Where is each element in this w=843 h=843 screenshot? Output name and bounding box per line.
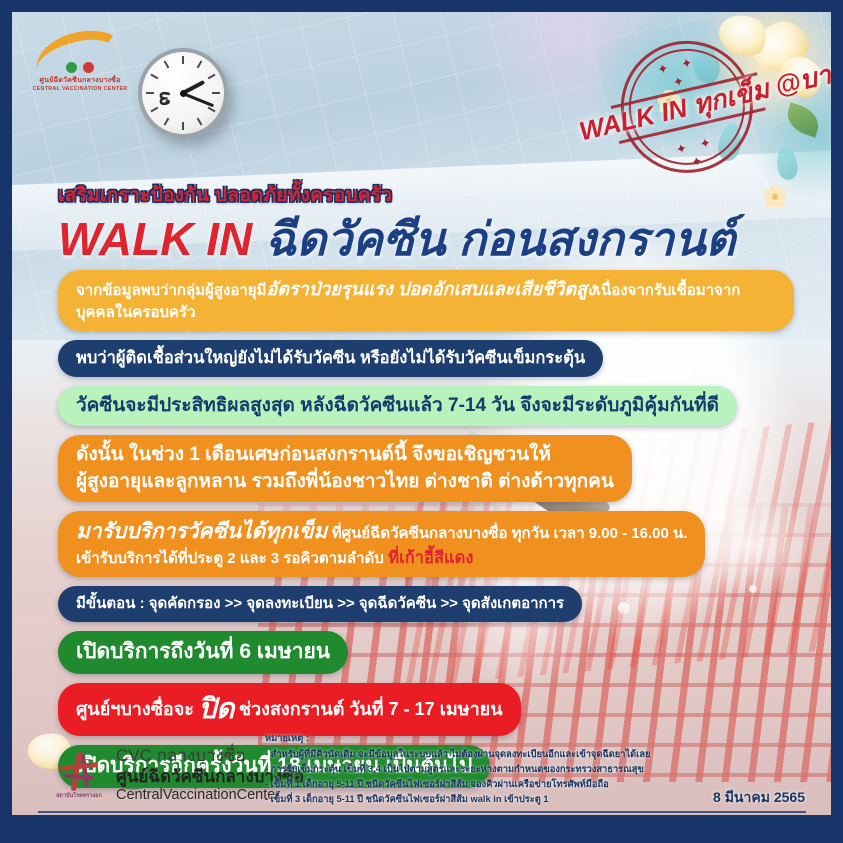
cvc-mark-caption: สถาบันโรคทรวงอก — [52, 792, 106, 800]
headline-main: WALK IN ฉีดวัคซีน ก่อนสงกรานต์ — [58, 214, 735, 266]
cvc-cross-logo: สถาบันโรคทรวงอก — [52, 751, 106, 800]
risk-text-highlight: อัตราป่วยรุนแรง ปอดอักเสบและเสียชีวิตสูง — [266, 279, 595, 299]
invitation-line-1: ดังนั้น ในช่วง 1 เดือนเศษก่อนสงกรานต์นี้… — [76, 442, 614, 468]
cross-icon — [58, 751, 100, 791]
unvaccinated-box: พบว่าผู้ติดเชื้อส่วนใหญ่ยังไม่ได้รับวัคซ… — [58, 340, 603, 377]
closed-box: ศูนย์ฯบางซื่อจะ ปิด ช่วงสงกรานต์ วันที่ … — [58, 683, 521, 736]
clock-minute-hand — [182, 92, 214, 107]
message-box-list: จากข้อมูลพบว่ากลุ่มผู้สูงอายุมีอัตราป่วย… — [58, 270, 794, 797]
logo-thai-name: ศูนย์ฉีดวัคซีนกลางบางซื่อ — [26, 75, 134, 86]
service-line-2: เข้ารับบริการได้ที่ประตู 2 และ 3 รอคิวตา… — [76, 547, 687, 570]
poster-canvas: ศูนย์ฉีดวัคซีนกลางบางซื่อ CENTRAL VACCIN… — [12, 12, 831, 831]
service-door-text: เข้ารับบริการได้ที่ประตู 2 และ 3 รอคิวตา… — [76, 550, 384, 567]
footer-divider — [38, 811, 806, 813]
service-red-chair-text: ที่เก้าอี้สีแดง — [388, 549, 473, 567]
service-rest: ที่ศูนย์ฉีดวัคซีนกลางบางซื่อ ทุกวัน เวลา… — [332, 525, 688, 542]
footer-notes: หมายเหตุ : - สำหรับผู้ที่มีคิวนัดเดิม จะ… — [265, 731, 805, 807]
footer-band — [12, 815, 831, 831]
publish-date: 8 มีนาคม 2565 — [713, 786, 805, 809]
risk-text-part1: จากข้อมูลพบว่ากลุ่มผู้สูงอายุมี — [76, 282, 266, 299]
service-line-1: มารับบริการวัคซีนได้ทุกเข็ม ที่ศูนย์ฉีดว… — [76, 518, 687, 547]
cvc-logo-top-left: ศูนย์ฉีดวัคซีนกลางบางซื่อ CENTRAL VACCIN… — [26, 32, 134, 92]
closed-part1: ศูนย์ฯบางซื่อจะ — [76, 699, 194, 719]
logo-english-name: CENTRAL VACCINATION CENTER — [26, 86, 134, 92]
clock-center-pin — [180, 90, 187, 97]
service-strong: มารับบริการวัคซีนได้ทุกเข็ม — [76, 520, 327, 543]
clock-digit: ๓ — [147, 91, 180, 105]
notes-title: หมายเหตุ : — [265, 731, 805, 746]
efficacy-text: วัคซีนจะมีประสิทธิผลสูงสุด หลังฉีดวัคซีน… — [76, 395, 719, 416]
service-box: มารับบริการวัคซีนได้ทุกเข็ม ที่ศูนย์ฉีดว… — [58, 511, 705, 577]
headline-walk-in: WALK IN — [58, 213, 252, 265]
note-item: - การรับเข็มกระตุ้น เข็มที่ 3,4 เป็นไปตา… — [265, 762, 805, 777]
open-until-box: เปิดบริการถึงวันที่ 6 เมษายน — [58, 631, 348, 674]
note-item: - สำหรับผู้ที่มีคิวนัดเดิม จะมีข้อมูลในร… — [265, 747, 805, 762]
headline-before-songkran: ก่อนสงกรานต์ — [458, 213, 735, 265]
headline-vaccinate: ฉีดวัคซีน — [265, 213, 445, 265]
efficacy-box: วัคซีนจะมีประสิทธิผลสูงสุด หลังฉีดวัคซีน… — [58, 386, 737, 426]
open-until-text: เปิดบริการถึงวันที่ 6 เมษายน — [76, 640, 330, 663]
invitation-box: ดังนั้น ในช่วง 1 เดือนเศษก่อนสงกรานต์นี้… — [58, 435, 632, 501]
poster-frame: ศูนย์ฉีดวัคซีนกลางบางซื่อ CENTRAL VACCIN… — [0, 0, 843, 843]
invitation-line-2: ผู้สูงอายุและลูกหลาน รวมถึงพี่น้องชาวไทย… — [76, 469, 614, 495]
risk-box: จากข้อมูลพบว่ากลุ่มผู้สูงอายุมีอัตราป่วย… — [58, 270, 794, 331]
steps-box: มีขั้นตอน : จุดคัดกรอง >> จุดลงทะเบียน >… — [58, 586, 582, 622]
closed-part2: ช่วงสงกรานต์ วันที่ 7 - 17 เมษายน — [239, 699, 503, 719]
steps-text: มีขั้นตอน : จุดคัดกรอง >> จุดลงทะเบียน >… — [76, 595, 564, 612]
unvaccinated-text: พบว่าผู้ติดเชื้อส่วนใหญ่ยังไม่ได้รับวัคซ… — [76, 349, 585, 367]
wall-clock-icon: ๓ — [138, 48, 228, 138]
closed-emphasis: ปิด — [198, 693, 234, 724]
